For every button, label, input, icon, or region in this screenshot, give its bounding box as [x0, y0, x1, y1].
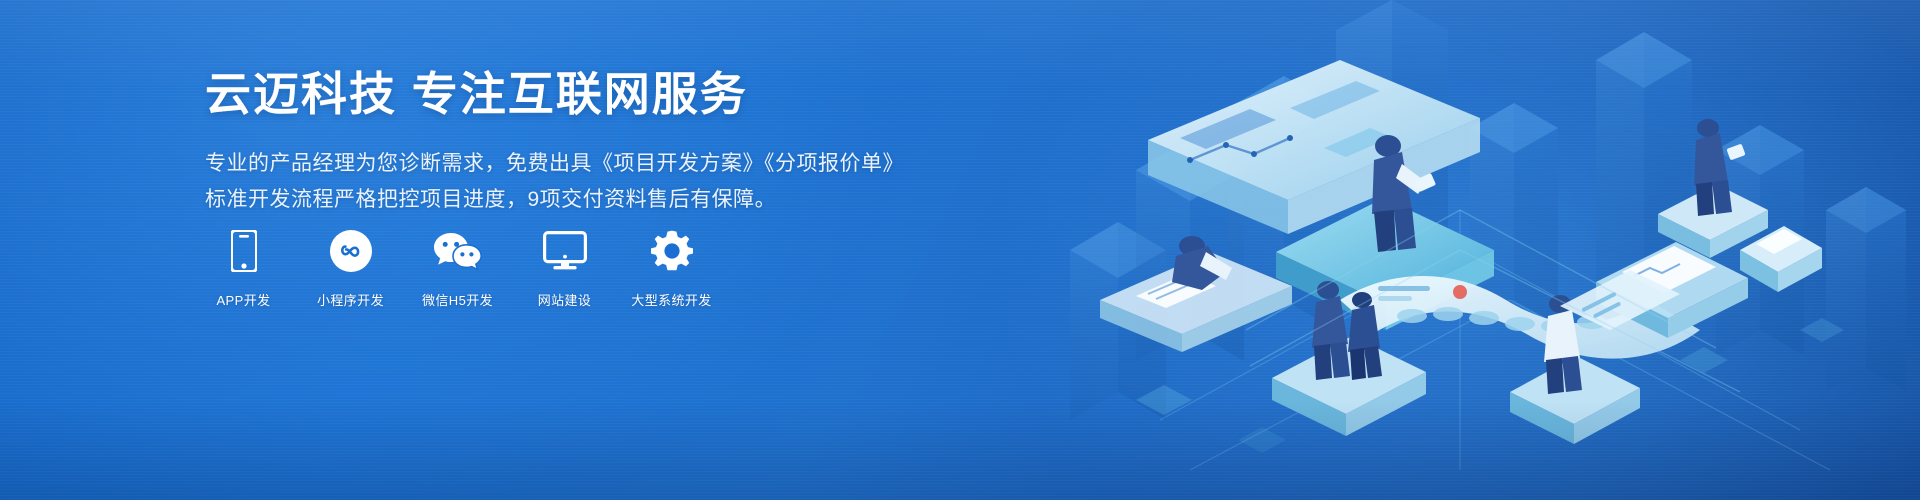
service-item-app[interactable]: APP开发 [205, 228, 282, 309]
wechat-icon [433, 228, 483, 274]
banner-content: 云迈科技 专注互联网服务 专业的产品经理为您诊断需求，免费出具《项目开发方案》《… [205, 66, 945, 218]
banner-headline: 云迈科技 专注互联网服务 [205, 66, 945, 124]
service-label-website: 网站建设 [538, 290, 592, 309]
service-label-wechat-h5: 微信H5开发 [422, 290, 493, 309]
service-item-wechat-h5[interactable]: 微信H5开发 [419, 228, 496, 309]
service-item-mini-program[interactable]: 小程序开发 [312, 228, 389, 309]
monitor-icon [543, 228, 587, 274]
gear-icon [651, 228, 693, 274]
service-list: APP开发 小程序开发 [205, 228, 710, 309]
mobile-phone-icon [231, 228, 257, 274]
service-label-mini-program: 小程序开发 [317, 290, 384, 309]
mini-program-icon [330, 228, 372, 274]
service-label-large-system: 大型系统开发 [631, 290, 711, 309]
banner-subtitle-line-1: 专业的产品经理为您诊断需求，免费出具《项目开发方案》《分项报价单》 [205, 146, 945, 182]
hero-banner: 云迈科技 专注互联网服务 专业的产品经理为您诊断需求，免费出具《项目开发方案》《… [0, 0, 1920, 500]
banner-subtitle: 专业的产品经理为您诊断需求，免费出具《项目开发方案》《分项报价单》 标准开发流程… [205, 146, 945, 218]
service-label-app: APP开发 [216, 290, 270, 309]
illustration-isometric-team-dashboard [1040, 0, 1920, 500]
banner-subtitle-line-2: 标准开发流程严格把控项目进度，9项交付资料售后有保障。 [205, 182, 945, 218]
service-item-large-system[interactable]: 大型系统开发 [633, 228, 710, 309]
service-item-website[interactable]: 网站建设 [526, 228, 603, 309]
